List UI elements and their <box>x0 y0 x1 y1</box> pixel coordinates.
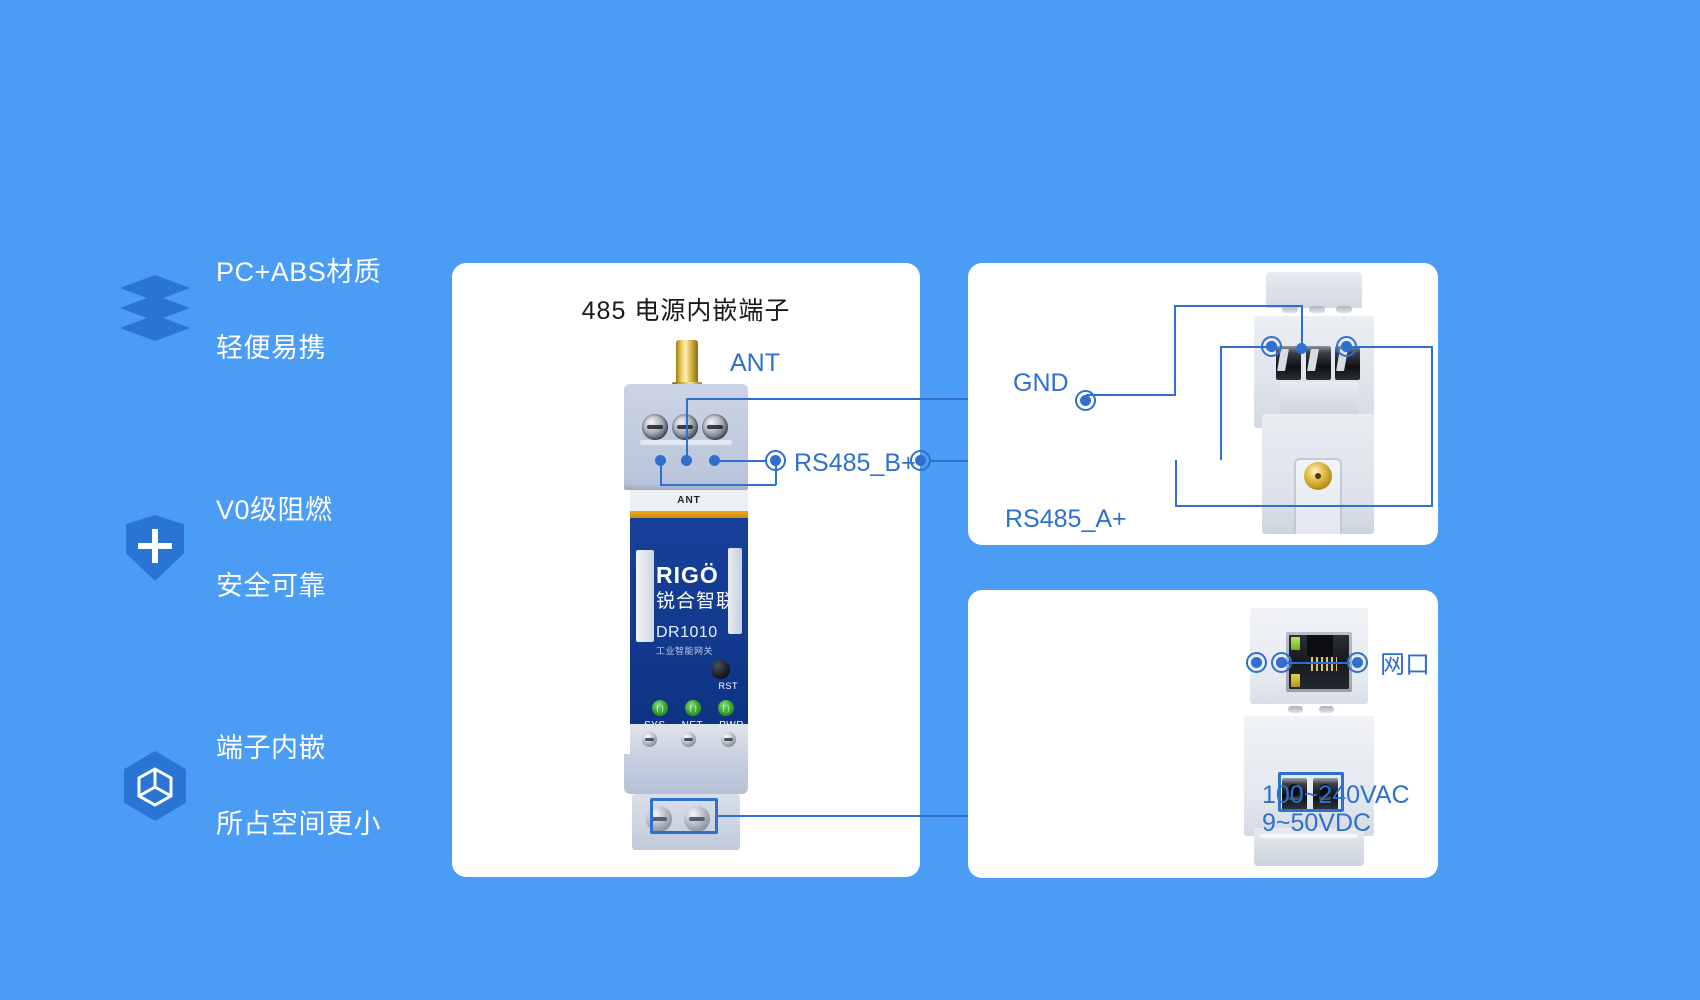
label-gnd: GND <box>1013 366 1069 400</box>
vent-holes <box>1282 306 1352 316</box>
label-ethernet: 网口 <box>1380 648 1430 682</box>
device-terminal-view <box>1240 272 1384 534</box>
led-sys: ( ) <box>652 700 668 716</box>
wire-segment <box>1347 346 1433 348</box>
feature-text-material: PC+ABS材质 轻便易携 <box>216 215 381 405</box>
sma-antenna-connector-icon <box>676 340 698 386</box>
wire-segment <box>1174 305 1176 395</box>
terminal-screw <box>702 414 728 440</box>
wire-segment <box>1175 460 1177 506</box>
panel-title: 485 电源内嵌端子 <box>452 291 920 327</box>
feature-line-1: V0级阻燃 <box>216 491 333 529</box>
label-voltage-dc: 9~50VDC <box>1262 806 1371 840</box>
callout-dot-rs485b-right <box>910 450 931 471</box>
link-led-green <box>1291 637 1300 650</box>
hexagon-cube-icon <box>120 751 190 821</box>
housing-ledge <box>1280 382 1358 414</box>
feature-item-flame-retardant: V0级阻燃 安全可靠 <box>120 493 460 603</box>
wire-segment <box>1174 305 1303 307</box>
label-ant: ANT <box>730 346 780 380</box>
model-number: DR1010 <box>656 624 718 642</box>
device-bottom-housing <box>624 754 748 794</box>
label-rs485-b: RS485_B+ <box>794 446 916 480</box>
feature-list: PC+ABS材质 轻便易携 V0级阻燃 安全可靠 端子内嵌 所占空间更小 <box>120 255 460 969</box>
feature-line-2: 轻便易携 <box>216 329 381 367</box>
feature-line-2: 安全可靠 <box>216 567 333 605</box>
feature-line-1: PC+ABS材质 <box>216 253 381 291</box>
ant-band-label: ANT <box>630 490 748 511</box>
light-pipe-strip <box>636 550 654 642</box>
vent-holes <box>1288 706 1334 715</box>
cube-glyph <box>134 765 176 807</box>
label-rs485-a: RS485_A+ <box>1005 502 1127 536</box>
shield-plus-icon <box>120 513 190 583</box>
sma-connector-icon <box>1304 462 1332 490</box>
terminal-gnd <box>1306 346 1331 380</box>
feature-line-1: 端子内嵌 <box>216 729 381 767</box>
terminal-screw <box>672 414 698 440</box>
device-blue-panel: RIGÖ 锐合智联 DR1010 工业智能网关 RST ( ) ( ) ( ) … <box>630 518 748 724</box>
wire-segment <box>660 484 776 486</box>
wire-segment <box>1220 346 1268 348</box>
activity-led-yellow <box>1291 674 1300 687</box>
device-front-face: ANT RIGÖ 锐合智联 DR1010 工业智能网关 RST ( ) ( ) … <box>630 490 748 724</box>
wire-segment <box>1220 347 1222 460</box>
feature-text-embedded-terminal: 端子内嵌 所占空间更小 <box>216 691 381 881</box>
feature-line-2: 所占空间更小 <box>216 805 381 843</box>
brand-logo: RIGÖ <box>656 562 719 589</box>
wire-segment <box>775 461 777 485</box>
status-led-group: ( ) ( ) ( ) <box>652 700 736 718</box>
model-subtitle: 工业智能网关 <box>656 644 713 657</box>
feature-item-embedded-terminal: 端子内嵌 所占空间更小 <box>120 731 460 841</box>
led-net: ( ) <box>685 700 701 716</box>
wire-segment <box>1301 305 1303 347</box>
wire-segment <box>1431 346 1433 506</box>
feature-item-material: PC+ABS材质 轻便易携 <box>120 255 460 365</box>
wire-segment <box>660 460 662 486</box>
callout-dot-ethernet-outer <box>1347 652 1368 673</box>
callout-dot-ethernet-inner <box>1246 652 1267 673</box>
reset-button[interactable] <box>711 660 730 679</box>
led-pwr: ( ) <box>718 700 734 716</box>
wire-segment <box>714 460 766 462</box>
reset-label: RST <box>719 681 739 691</box>
wire-segment <box>1086 394 1176 396</box>
wire-segment <box>1282 662 1350 664</box>
wire-segment <box>686 398 688 458</box>
layers-icon <box>120 275 190 345</box>
power-terminal-highlight <box>650 798 718 834</box>
device-cap <box>1266 272 1362 308</box>
feature-text-flame-retardant: V0级阻燃 安全可靠 <box>216 453 333 643</box>
gold-accent-stripe <box>630 511 748 518</box>
rs485-power-terminal-screws <box>642 414 728 442</box>
device-lower-vent <box>630 724 748 754</box>
brand-name-cn: 锐合智联 <box>656 586 736 613</box>
wire-segment <box>1175 505 1433 507</box>
terminal-screw <box>642 414 668 440</box>
